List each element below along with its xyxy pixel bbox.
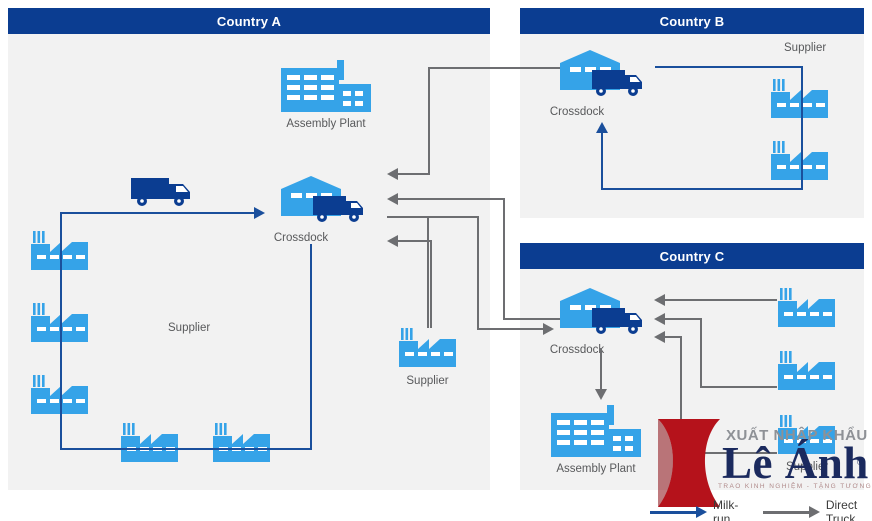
panel-header-country-b: Country B bbox=[520, 8, 864, 34]
direct-arrowhead-c-supplier2 bbox=[654, 313, 665, 325]
legend: Milk-run Direct Truck bbox=[650, 498, 872, 521]
country-b-crossdock-label: Crossdock bbox=[497, 106, 657, 118]
country-a-title: Country A bbox=[217, 14, 281, 29]
panel-header-country-c: Country C bbox=[520, 243, 864, 269]
direct-arrowhead-c-supplier1 bbox=[654, 294, 665, 306]
panel-header-country-a: Country A bbox=[8, 8, 490, 34]
milk-run-line-a-bottom bbox=[60, 448, 312, 450]
legend-direct-truck-arrow-icon bbox=[763, 506, 820, 518]
milk-run-line-a-left-vertical bbox=[60, 212, 62, 448]
country-c-assembly-plant-label: Assembly Plant bbox=[516, 463, 676, 475]
legend-milk-run-arrow-icon bbox=[650, 506, 707, 518]
direct-line-c-supplier3-h1 bbox=[680, 452, 777, 454]
factory-icon bbox=[396, 325, 459, 370]
direct-line-b-to-a-h-top bbox=[428, 67, 560, 69]
legend-direct-truck-label: Direct Truck bbox=[826, 498, 872, 521]
country-a-supplier-4[interactable] bbox=[118, 420, 181, 465]
country-c-supplier-2[interactable] bbox=[775, 348, 838, 393]
direct-arrowhead-c-to-plant bbox=[595, 389, 607, 400]
factory-icon bbox=[775, 348, 838, 393]
country-c-assembly-plant[interactable]: Assembly Plant bbox=[551, 405, 641, 457]
country-b-supplier-1[interactable] bbox=[768, 76, 831, 121]
direct-line-b-to-a-v bbox=[428, 67, 430, 175]
direct-arrowhead-c-to-a bbox=[387, 193, 398, 205]
country-c-supplier-1[interactable] bbox=[775, 285, 838, 330]
direct-line-c-supplier1 bbox=[665, 299, 777, 301]
direct-line-a-supplier-to-c-v1 bbox=[427, 216, 429, 328]
country-c-supplier-3[interactable] bbox=[775, 412, 838, 457]
direct-line-a-supplier-to-c-h1 bbox=[387, 216, 479, 218]
truck-icon bbox=[131, 176, 193, 208]
warehouse-truck-icon bbox=[560, 288, 646, 340]
country-c-supplier-label: Supplier bbox=[786, 461, 828, 473]
country-c-crossdock[interactable]: Crossdock bbox=[560, 288, 646, 340]
factory-building-icon bbox=[551, 405, 641, 457]
warehouse-truck-icon bbox=[281, 176, 367, 228]
country-b-supplier-2[interactable] bbox=[768, 138, 831, 183]
factory-icon bbox=[768, 76, 831, 121]
country-a-direct-supplier[interactable]: Supplier bbox=[396, 325, 459, 370]
supply-chain-diagram: Country A Assembly Plant bbox=[0, 0, 872, 521]
milk-run-line-b-bottom bbox=[601, 188, 803, 190]
milk-run-line-a-right-vertical bbox=[310, 244, 312, 450]
milk-run-line-a-top bbox=[60, 212, 256, 214]
direct-line-c-supplier3-v bbox=[680, 336, 682, 454]
factory-icon bbox=[775, 412, 838, 457]
direct-line-third-inbound-v bbox=[430, 240, 432, 328]
direct-arrowhead-c-supplier3 bbox=[654, 331, 665, 343]
direct-line-c-to-a-h-bottom bbox=[503, 318, 560, 320]
country-b-supplier-label: Supplier bbox=[784, 42, 826, 54]
milk-run-line-b-top bbox=[655, 66, 803, 68]
direct-line-a-supplier-to-c-h2 bbox=[477, 328, 544, 330]
country-b-title: Country B bbox=[660, 14, 725, 29]
direct-arrowhead-a-to-c bbox=[543, 323, 554, 335]
milk-run-line-b-left-vertical bbox=[601, 130, 603, 188]
milk-run-line-b-right-vertical bbox=[801, 66, 803, 190]
country-a-crossdock[interactable]: Crossdock bbox=[281, 176, 367, 228]
direct-line-c-to-a-h-top bbox=[398, 198, 505, 200]
direct-line-c-supplier3-h2 bbox=[665, 336, 682, 338]
country-a-supplier-loop-label: Supplier bbox=[168, 322, 210, 334]
milk-run-arrowhead-b-to-crossdock bbox=[596, 122, 608, 133]
factory-icon bbox=[775, 285, 838, 330]
direct-arrowhead-b-to-a bbox=[387, 168, 398, 180]
factory-icon bbox=[118, 420, 181, 465]
direct-line-c-to-a-v bbox=[503, 198, 505, 320]
direct-line-b-to-a-h-bottom bbox=[398, 173, 430, 175]
direct-line-c-supplier2-v bbox=[700, 318, 702, 388]
country-a-crossdock-label: Crossdock bbox=[221, 232, 381, 244]
warehouse-truck-icon bbox=[560, 50, 646, 102]
direct-line-c-crossdock-to-plant bbox=[600, 348, 602, 390]
country-c-title: Country C bbox=[660, 249, 725, 264]
factory-building-icon bbox=[281, 60, 371, 112]
country-a-assembly-plant[interactable]: Assembly Plant bbox=[281, 60, 371, 112]
country-a-supplier-5[interactable] bbox=[210, 420, 273, 465]
factory-icon bbox=[210, 420, 273, 465]
country-a-assembly-plant-label: Assembly Plant bbox=[246, 118, 406, 130]
legend-item-milk-run: Milk-run bbox=[650, 498, 741, 521]
factory-icon bbox=[768, 138, 831, 183]
legend-item-direct-truck: Direct Truck bbox=[763, 498, 872, 521]
direct-line-c-supplier2-h1 bbox=[700, 386, 777, 388]
direct-line-c-supplier2-h2 bbox=[665, 318, 702, 320]
milk-run-arrowhead-a-to-crossdock bbox=[254, 207, 265, 219]
country-b-crossdock[interactable]: Crossdock bbox=[560, 50, 646, 102]
direct-arrowhead-third-inbound bbox=[387, 235, 398, 247]
direct-line-third-inbound-h bbox=[398, 240, 432, 242]
direct-line-a-supplier-to-c-v2 bbox=[477, 216, 479, 330]
country-a-truck[interactable] bbox=[131, 176, 193, 208]
country-a-direct-supplier-label: Supplier bbox=[348, 375, 508, 387]
legend-milk-run-label: Milk-run bbox=[713, 498, 741, 521]
country-c-crossdock-label: Crossdock bbox=[497, 344, 657, 356]
